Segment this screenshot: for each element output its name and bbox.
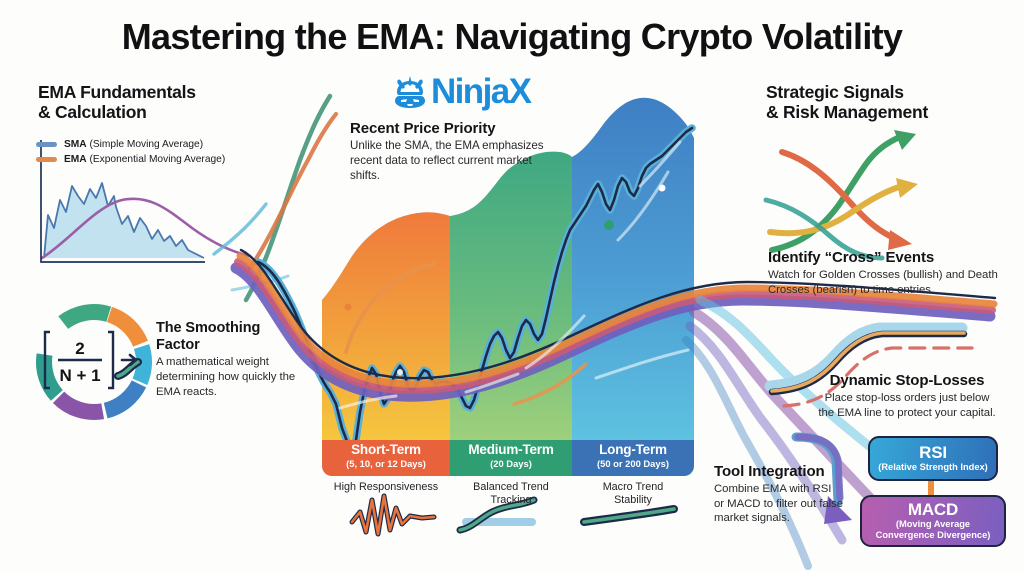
band-medium-term-name: Medium-Term <box>450 443 572 458</box>
section-heading-right: Strategic Signals & Risk Management <box>766 82 1021 123</box>
legend-label-ema: EMA (Exponential Moving Average) <box>64 154 225 165</box>
section-heading-left-line1: EMA Fundamentals <box>38 82 268 102</box>
cross-events-body: Watch for Golden Crosses (bullish) and D… <box>768 268 1018 297</box>
indicator-box-rsi[interactable]: RSI (Relative Strength Index) <box>868 436 998 481</box>
recent-price-body: Unlike the SMA, the EMA emphasizes recen… <box>350 139 546 183</box>
page-title: Mastering the EMA: Navigating Crypto Vol… <box>0 18 1024 56</box>
stop-losses-heading: Dynamic Stop-Losses <box>790 372 1024 389</box>
legend-full-ema: (Exponential Moving Average) <box>89 154 225 165</box>
infographic-canvas: Mastering the EMA: Navigating Crypto Vol… <box>0 0 1024 572</box>
smoothing-heading-line2: Factor <box>156 337 296 354</box>
legend-swatch-ema <box>36 157 57 162</box>
decor-dot <box>345 304 352 311</box>
stop-losses-block: Dynamic Stop-Losses Place stop-loss orde… <box>790 372 1024 420</box>
section-heading-right-line1: Strategic Signals <box>766 82 1021 102</box>
indicator-box-macd[interactable]: MACD (Moving Average Convergence Diverge… <box>860 495 1006 547</box>
smoothing-heading-line1: The Smoothing <box>156 320 296 337</box>
band-medium-term-period: (20 Days) <box>450 458 572 470</box>
band-label-long-term: Long-Term (50 or 200 Days) <box>572 440 694 476</box>
legend-abbr-ema: EMA <box>64 154 87 165</box>
stop-losses-body-line1: Place stop-loss orders just below <box>790 391 1024 406</box>
band-trait-short-term: High Responsiveness <box>322 481 450 494</box>
band-label-medium-term: Medium-Term (20 Days) <box>450 440 572 476</box>
tool-integration-body: Combine EMA with RSI or MACD to filter o… <box>714 482 844 526</box>
band-trait-long-term-line1: Macro Trend <box>572 481 694 494</box>
indicator-macd-abbr: MACD <box>908 501 958 519</box>
brand-name: NinjaX <box>431 74 530 109</box>
recent-price-heading: Recent Price Priority <box>350 120 546 137</box>
long-term-icon <box>584 509 674 522</box>
tool-integration-heading: Tool Integration <box>714 463 844 480</box>
indicator-macd-full-line1: (Moving Average <box>892 519 974 530</box>
decor-dot <box>397 369 403 375</box>
smoothing-formula: 2 N + 1 <box>44 330 116 390</box>
section-heading-left-line2: & Calculation <box>38 102 268 122</box>
cross-events-block: Identify “Cross” Events Watch for Golden… <box>768 249 1018 297</box>
band-long-term-name: Long-Term <box>572 443 694 458</box>
band-trait-short-term-line1: High Responsiveness <box>322 481 450 494</box>
smoothing-factor-text: The Smoothing Factor A mathematical weig… <box>156 320 296 399</box>
band-trait-long-term: Macro Trend Stability <box>572 481 694 507</box>
band-trait-medium-term-line2: Tracking <box>450 494 572 507</box>
formula-numerator: 2 <box>75 339 84 358</box>
short-term-icon <box>352 496 434 534</box>
brand-logo: NinjaX <box>392 74 530 109</box>
indicator-macd-full-line2: Convergence Divergence) <box>872 530 995 541</box>
section-heading-right-line2: & Risk Management <box>766 102 1021 122</box>
indicator-rsi-abbr: RSI <box>919 444 947 462</box>
chart-legend: SMA (Simple Moving Average) EMA (Exponen… <box>36 139 225 169</box>
ninja-helmet-icon <box>392 75 428 109</box>
legend-item-ema: EMA (Exponential Moving Average) <box>36 154 225 165</box>
band-label-short-term: Short-Term (5, 10, or 12 Days) <box>322 440 450 476</box>
band-short-term-name: Short-Term <box>322 443 450 458</box>
decor-dot <box>604 220 614 230</box>
smoothing-body: A mathematical weight determining how qu… <box>156 355 296 399</box>
stop-losses-body-line2: the EMA line to protect your capital. <box>790 406 1024 421</box>
band-long-term-period: (50 or 200 Days) <box>572 458 694 470</box>
section-heading-left: EMA Fundamentals & Calculation <box>38 82 268 123</box>
indicator-rsi-full: (Relative Strength Index) <box>874 462 992 473</box>
tool-integration-block: Tool Integration Combine EMA with RSI or… <box>714 463 844 526</box>
cross-events-arrows <box>766 130 918 258</box>
cross-events-heading: Identify “Cross” Events <box>768 249 1018 266</box>
legend-label-sma: SMA (Simple Moving Average) <box>64 139 203 150</box>
legend-swatch-sma <box>36 142 57 147</box>
legend-abbr-sma: SMA <box>64 139 87 150</box>
band-trait-long-term-line2: Stability <box>572 494 694 507</box>
band-short-term-period: (5, 10, or 12 Days) <box>322 458 450 470</box>
legend-item-sma: SMA (Simple Moving Average) <box>36 139 225 150</box>
legend-full-sma: (Simple Moving Average) <box>89 139 203 150</box>
recent-price-priority-block: Recent Price Priority Unlike the SMA, th… <box>350 120 546 184</box>
formula-denominator: N + 1 <box>59 366 100 385</box>
band-trait-medium-term-line1: Balanced Trend <box>450 481 572 494</box>
band-trait-medium-term: Balanced Trend Tracking <box>450 481 572 507</box>
